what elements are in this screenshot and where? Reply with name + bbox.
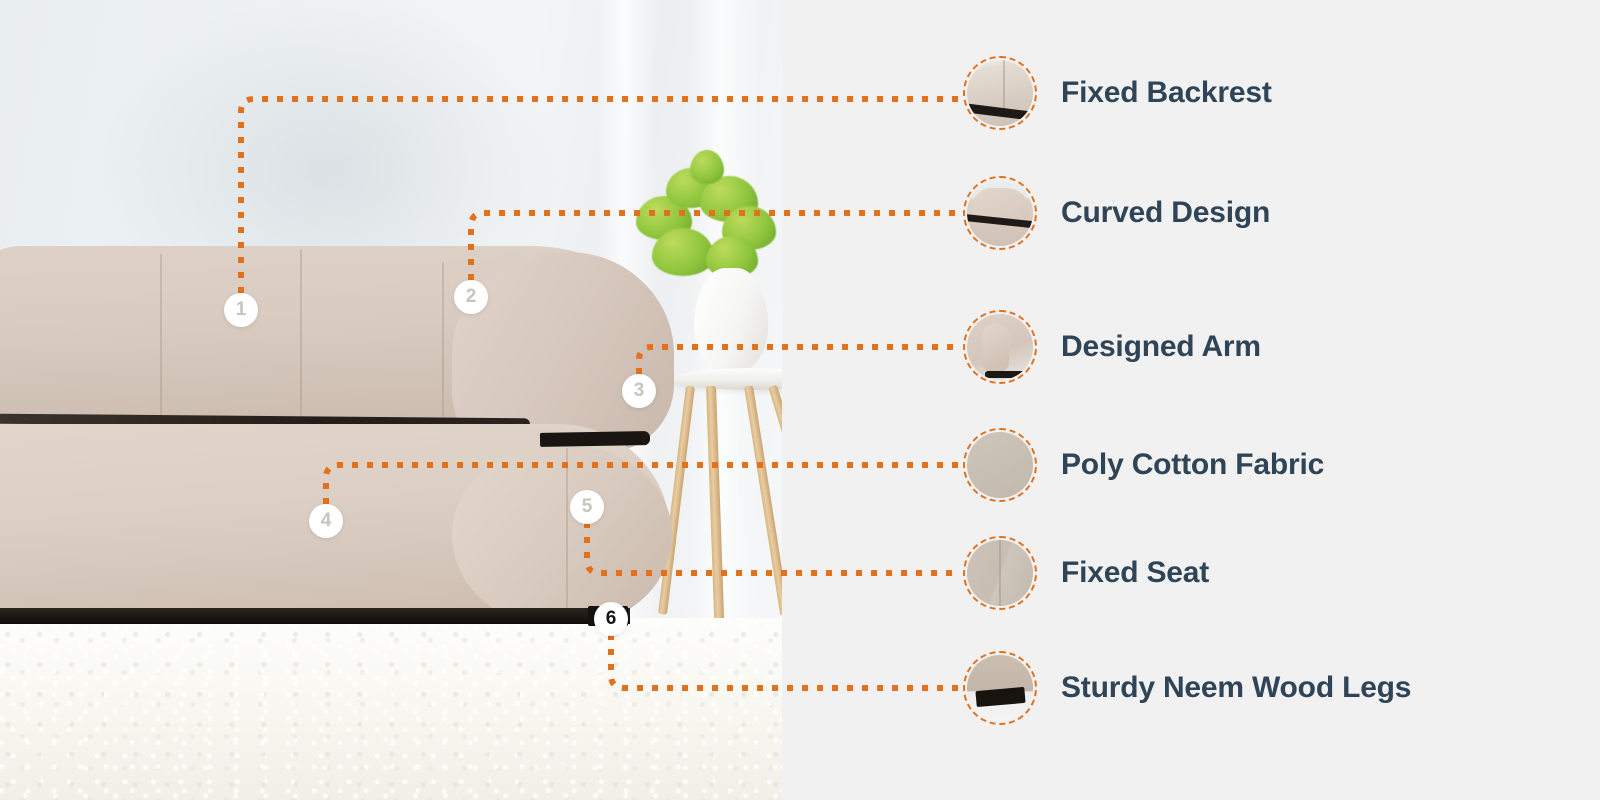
legend-item-designed-arm[interactable]: Designed Arm [963, 310, 1261, 384]
thumb-neem-wood-legs[interactable] [963, 651, 1037, 725]
marker-3[interactable]: 3 [622, 374, 656, 408]
sofa-seam [300, 250, 302, 422]
sofa-seat-curve [452, 444, 672, 622]
marker-6[interactable]: 6 [594, 602, 628, 636]
marker-number: 4 [321, 510, 332, 532]
rug [0, 618, 782, 800]
legend-item-curved-design[interactable]: Curved Design [963, 176, 1270, 250]
plant-leaf [690, 150, 724, 184]
legend-item-poly-cotton-fabric[interactable]: Poly Cotton Fabric [963, 428, 1324, 502]
thumb-fixed-seat[interactable] [963, 536, 1037, 610]
sofa-seam [160, 254, 162, 422]
marker-number: 2 [466, 286, 477, 308]
sofa-seam [442, 262, 444, 430]
thumb-poly-cotton[interactable] [963, 428, 1037, 502]
marker-number: 5 [582, 496, 593, 518]
sofa-base-strip [0, 608, 630, 624]
marker-4[interactable]: 4 [309, 504, 343, 538]
vase [694, 268, 768, 374]
thumb-image [967, 60, 1033, 126]
thumb-image [967, 314, 1033, 380]
legend-item-fixed-seat[interactable]: Fixed Seat [963, 536, 1209, 610]
marker-number: 1 [236, 299, 247, 321]
legend-item-neem-wood-legs[interactable]: Sturdy Neem Wood Legs [963, 651, 1411, 725]
marker-number: 3 [634, 380, 645, 402]
thumb-designed-arm[interactable] [963, 310, 1037, 384]
legend-label: Fixed Seat [1061, 556, 1209, 590]
sofa-seam [566, 448, 568, 620]
thumb-image [967, 180, 1033, 246]
thumb-fixed-backrest[interactable] [963, 56, 1037, 130]
legend-label: Sturdy Neem Wood Legs [1061, 671, 1411, 705]
thumb-image [967, 432, 1033, 498]
marker-5[interactable]: 5 [570, 490, 604, 524]
legend-label: Designed Arm [1061, 330, 1261, 364]
product-photo [0, 0, 782, 800]
legend-label: Fixed Backrest [1061, 76, 1272, 110]
marker-1[interactable]: 1 [224, 293, 258, 327]
marker-number: 6 [606, 608, 617, 630]
thumb-curved-design[interactable] [963, 176, 1037, 250]
sofa-arm-shadow [540, 431, 650, 447]
feature-legend-panel: Fixed Backrest Curved Design Designed Ar… [782, 0, 1600, 800]
marker-2[interactable]: 2 [454, 280, 488, 314]
thumb-image [967, 540, 1033, 606]
legend-item-fixed-backrest[interactable]: Fixed Backrest [963, 56, 1272, 130]
infographic-canvas: Fixed Backrest Curved Design Designed Ar… [0, 0, 1600, 800]
legend-label: Poly Cotton Fabric [1061, 448, 1324, 482]
thumb-image [967, 655, 1033, 721]
legend-label: Curved Design [1061, 196, 1270, 230]
